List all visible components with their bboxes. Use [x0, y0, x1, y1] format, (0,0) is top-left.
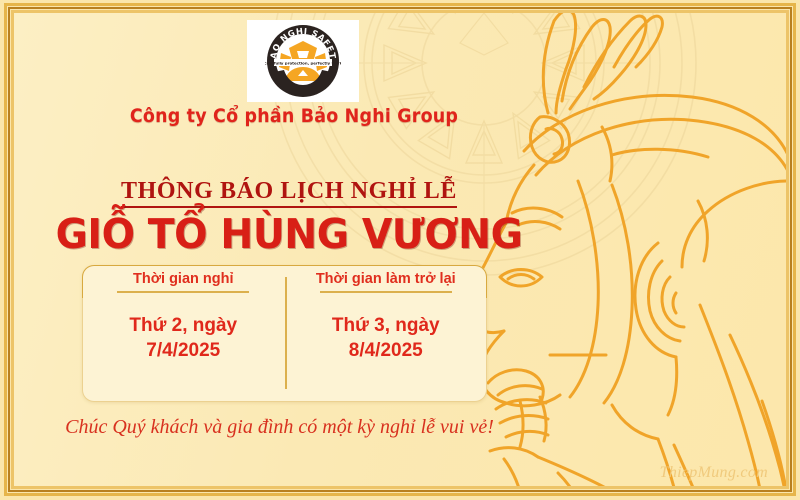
schedule-columns: Thời gian nghỉ Thứ 2, ngày 7/4/2025 Thời… [82, 265, 487, 402]
return-day-label: Thứ 3, ngày [332, 313, 440, 338]
greeting-message: Chúc Quý khách và gia đình có một kỳ ngh… [52, 413, 507, 442]
company-name: Công ty Cổ phần Bảo Nghi Group [36, 105, 551, 127]
column-value-holiday: Thứ 2, ngày 7/4/2025 [129, 313, 237, 363]
column-header-rule [117, 291, 249, 293]
notice-heading-text: THÔNG BÁO LỊCH NGHỈ LỄ [121, 178, 457, 208]
banner-canvas: Carefully protection, perfectly work BAO… [14, 13, 786, 486]
watermark: ThiepMung.com [660, 464, 768, 482]
return-date-label: 8/4/2025 [332, 338, 440, 363]
logo-tagline-text: Carefully protection, perfectly work [265, 61, 341, 66]
column-value-return: Thứ 3, ngày 8/4/2025 [332, 313, 440, 363]
company-logo: Carefully protection, perfectly work BAO… [247, 20, 359, 102]
holiday-announcement-banner: Carefully protection, perfectly work BAO… [0, 0, 800, 500]
schedule-column-holiday: Thời gian nghỉ Thứ 2, ngày 7/4/2025 [82, 265, 285, 402]
notice-heading: THÔNG BÁO LỊCH NGHỈ LỄ [14, 178, 564, 205]
schedule-panel: Thời gian nghỉ Thứ 2, ngày 7/4/2025 Thời… [82, 265, 487, 402]
column-header-return: Thời gian làm trở lại [316, 271, 456, 287]
holiday-day-label: Thứ 2, ngày [129, 313, 237, 338]
holiday-date-label: 7/4/2025 [129, 338, 237, 363]
schedule-column-return: Thời gian làm trở lại Thứ 3, ngày 8/4/20… [285, 265, 488, 402]
column-header-holiday: Thời gian nghỉ [133, 271, 234, 287]
page-title: GIỖ TỔ HÙNG VƯƠNG [25, 210, 553, 258]
bao-nghi-safety-badge-icon: Carefully protection, perfectly work BAO… [265, 23, 341, 99]
column-header-rule [320, 291, 452, 293]
